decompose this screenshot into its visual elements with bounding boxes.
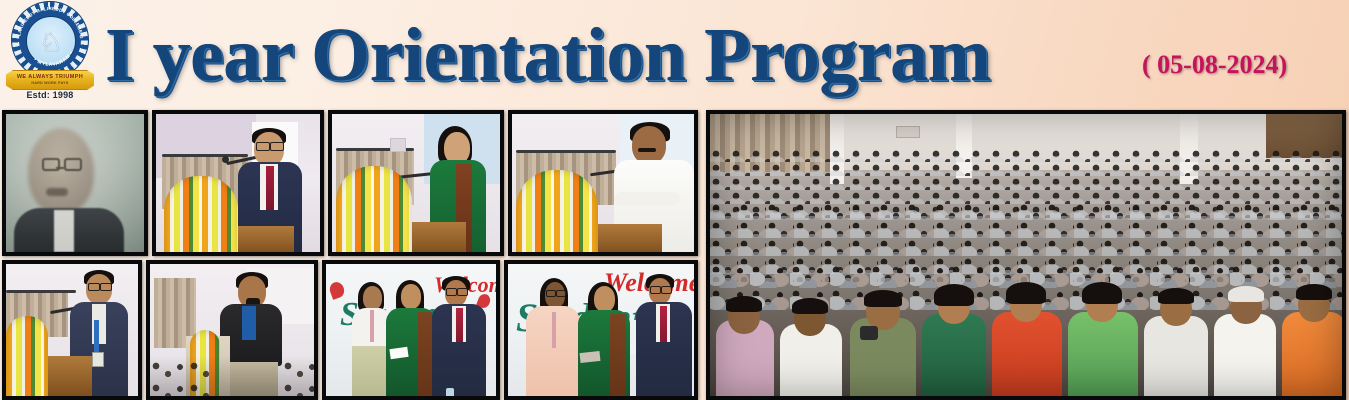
svg-text:• MYLAVARAM •: • MYLAVARAM • xyxy=(32,50,75,68)
photo-award-presentation-2[interactable]: Welcome to Students xyxy=(504,260,698,400)
photo-speaker-lanyard[interactable] xyxy=(2,260,142,400)
logo-ribbon: WE ALWAYS TRIUMPH HARD WORK PAYS xyxy=(6,70,94,90)
svg-text:LAKIREDDY BALIREDDY COLLEGE OF: LAKIREDDY BALIREDDY COLLEGE OF ENGINEERI… xyxy=(12,2,84,39)
ribbon-motto-primary: WE ALWAYS TRIUMPH xyxy=(17,75,83,81)
ribbon-motto-secondary: HARD WORK PAYS xyxy=(31,82,68,86)
logo-established-year: Estd: 1998 xyxy=(4,90,96,100)
photo-award-presentation-1[interactable]: Welcome to Students xyxy=(322,260,500,400)
page-title: I year Orientation Program xyxy=(105,12,1150,98)
photo-speaker-white-shirt[interactable] xyxy=(508,110,698,256)
logo-seal: ♘ LAKIREDDY BALIREDDY COLLEGE OF ENGINEE… xyxy=(12,2,88,78)
banner-header: ♘ LAKIREDDY BALIREDDY COLLEGE OF ENGINEE… xyxy=(0,0,1349,105)
photo-speaker-navy-suit[interactable] xyxy=(152,110,324,256)
photo-projection-screen[interactable] xyxy=(2,110,148,256)
college-logo: ♘ LAKIREDDY BALIREDDY COLLEGE OF ENGINEE… xyxy=(4,2,96,102)
photo-audience-auditorium[interactable] xyxy=(706,110,1346,400)
photo-gallery: Welcome to Students xyxy=(0,105,1349,400)
photo-speaker-microphone[interactable] xyxy=(146,260,318,400)
event-date: ( 05-08-2024) xyxy=(1142,50,1287,80)
event-banner: ♘ LAKIREDDY BALIREDDY COLLEGE OF ENGINEE… xyxy=(0,0,1349,400)
photo-speaker-green-saree[interactable] xyxy=(328,110,504,256)
seal-arc-text: LAKIREDDY BALIREDDY COLLEGE OF ENGINEERI… xyxy=(12,2,88,78)
